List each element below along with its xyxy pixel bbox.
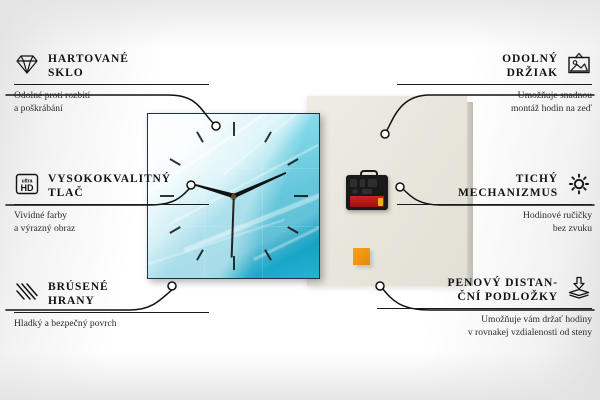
diagonal-lines-icon (14, 280, 40, 304)
feature-subtitle-line2: a výrazný obraz (14, 223, 75, 234)
ultra-hd-icon: ultra HD (14, 172, 40, 196)
feature-foam-spacers[interactable]: PENOVÝ DISTAN- ČNÍ PODLOŽKY Umožňuje vám… (377, 276, 592, 340)
feature-title-line1: TICHÝ (516, 173, 558, 185)
feature-divider (14, 84, 209, 85)
feature-title-line2: ČNÍ PODLOŽKY (457, 291, 558, 303)
feature-subtitle-line1: Hodinové ručičky (523, 210, 592, 221)
arrow-onto-layers-icon (566, 276, 592, 300)
svg-text:HD: HD (21, 183, 34, 193)
clock-mechanism (346, 170, 388, 210)
feature-title-line1: HARTOVANÉ (48, 53, 129, 65)
feature-subtitle-line1: Umožňuje vám držať hodiny (481, 314, 592, 325)
feature-divider (14, 204, 209, 205)
feature-title-line2: DRŽIAK (507, 67, 558, 79)
hour-mark (287, 226, 298, 234)
feature-divider (397, 84, 592, 85)
feature-title-line2: TLAČ (48, 187, 84, 199)
feature-title-line2: HRANY (48, 295, 95, 307)
feature-divider (14, 312, 209, 313)
hour-mark (196, 249, 204, 260)
picture-frame-icon (566, 52, 592, 76)
battery-terminal (378, 198, 383, 206)
feature-subtitle-line2: a poškrábání (14, 103, 63, 114)
diamond-icon (14, 52, 40, 76)
feature-subtitle-line2: bez zvuku (553, 223, 592, 234)
feature-title-line1: VYSOKOKVALITNÝ (48, 173, 171, 185)
feature-tempered-glass[interactable]: HARTOVANÉ SKLO Odolné proti rozbití a po… (14, 52, 209, 116)
gear-icon (566, 172, 592, 196)
feature-subtitle-line1: Hladký a bezpečný povrch (14, 318, 117, 329)
feature-subtitle-line1: Odolné proti rozbití (14, 90, 90, 101)
feature-divider (397, 204, 592, 205)
feature-durable-hanger[interactable]: ODOLNÝ DRŽIAK Umožňuje snadnou montáž ho… (397, 52, 592, 116)
hour-mark (294, 195, 308, 197)
feature-title-line1: ODOLNÝ (502, 53, 558, 65)
mechanism-body (346, 175, 388, 210)
hour-mark (233, 256, 235, 270)
feature-title-line1: PENOVÝ DISTAN- (448, 277, 558, 289)
feature-subtitle-line1: Umožňuje snadnou (518, 90, 592, 101)
feature-subtitle-line2: v rovnakej vzdialenosti od steny (468, 327, 592, 338)
feature-title-line1: BRÚSENÉ (48, 281, 109, 293)
feature-title-line2: SKLO (48, 67, 84, 79)
infographic-canvas: HARTOVANÉ SKLO Odolné proti rozbití a po… (0, 0, 600, 400)
feature-subtitle-line2: montáž hodin na zeď (511, 103, 592, 114)
clock-center-pin (231, 194, 236, 199)
feature-polished-edges[interactable]: BRÚSENÉ HRANY Hladký a bezpečný povrch (14, 280, 209, 331)
mechanism-battery (350, 196, 384, 207)
hour-mark (233, 122, 235, 136)
feature-high-quality-print[interactable]: ultra HD VYSOKOKVALITNÝ TLAČ Vividné far… (14, 172, 209, 236)
feature-title-line2: MECHANIZMUS (458, 187, 558, 199)
feature-divider (377, 308, 592, 309)
foam-spacer-pad (353, 248, 370, 265)
feature-silent-mechanism[interactable]: TICHÝ MECHANIZMUS Hodinové ručičky bez z… (397, 172, 592, 236)
hour-mark (196, 131, 204, 142)
feature-subtitle-line1: Vividné farby (14, 210, 67, 221)
